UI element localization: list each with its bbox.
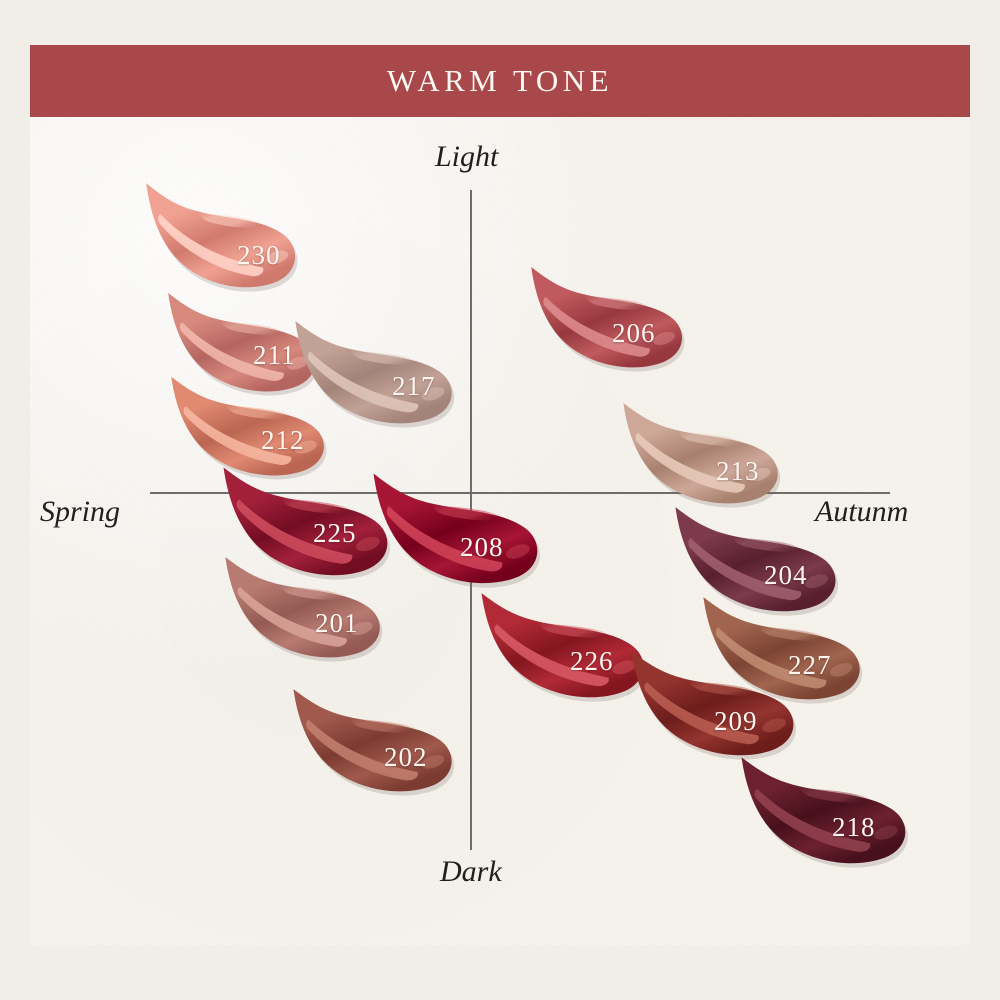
warm-tone-shade-chart: WARM TONE Light Dark Spring Autunm 23021… [0,0,1000,1000]
swatch-208[interactable]: 208 [370,468,546,586]
swatch-body [631,651,793,755]
swatch-shape-201 [222,552,388,660]
swatch-body [742,757,906,863]
axis-label-spring: Spring [40,495,120,529]
header-banner: WARM TONE [30,45,970,117]
swatch-shape-230 [143,178,303,290]
swatch-shape-206 [528,262,690,370]
axis-label-dark: Dark [440,855,502,889]
swatch-body [146,183,295,287]
swatch-body [293,689,451,791]
swatch-shape-209 [628,646,802,758]
swatch-202[interactable]: 202 [290,684,460,794]
swatch-201[interactable]: 201 [222,552,388,660]
swatch-213[interactable]: 213 [620,398,786,506]
swatch-shape-226 [478,588,652,700]
swatch-body [374,473,538,583]
axis-label-autumn: Autunm [815,495,908,529]
swatch-body [225,557,379,657]
swatch-body [481,593,643,697]
page-title: WARM TONE [387,63,613,99]
swatch-body [531,267,682,367]
axis-label-light: Light [435,140,498,174]
swatch-206[interactable]: 206 [528,262,690,370]
swatch-shape-208 [370,468,546,586]
swatch-209[interactable]: 209 [628,646,802,758]
swatch-218[interactable]: 218 [738,752,914,866]
swatch-body [171,377,324,476]
swatch-226[interactable]: 226 [478,588,652,700]
swatch-230[interactable]: 230 [143,178,303,290]
swatch-shape-213 [620,398,786,506]
swatch-body [623,403,777,503]
swatch-shape-202 [290,684,460,794]
swatch-shape-218 [738,752,914,866]
